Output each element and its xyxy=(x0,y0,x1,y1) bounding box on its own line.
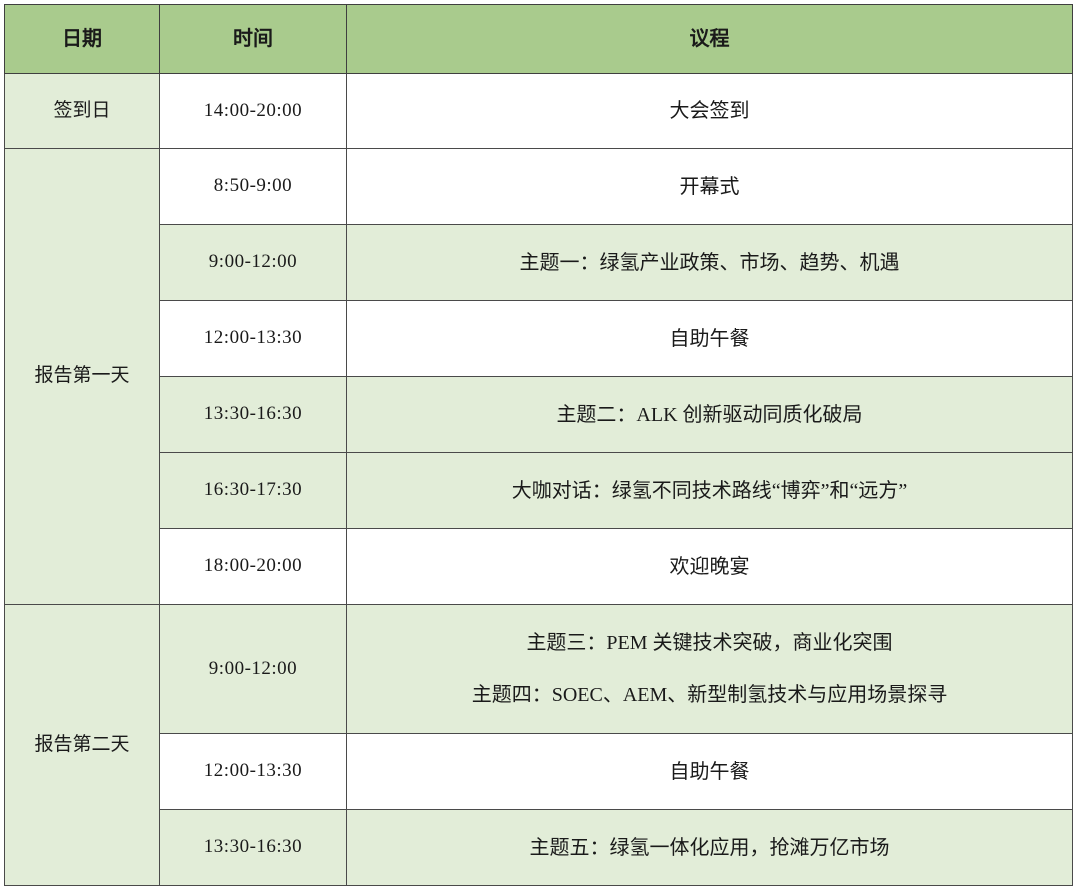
agenda-topic-line: 大咖对话：绿氢不同技术路线“博弈”和“远方” xyxy=(353,476,1066,506)
agenda-topic-cell: 主题二：ALK 创新驱动同质化破局 xyxy=(347,377,1073,453)
agenda-topic-line: 主题四：SOEC、AEM、新型制氢技术与应用场景探寻 xyxy=(353,680,1066,710)
table-row: 16:30-17:30大咖对话：绿氢不同技术路线“博弈”和“远方” xyxy=(5,453,1073,529)
column-header-topic: 议程 xyxy=(347,5,1073,74)
agenda-topic-cell: 主题一：绿氢产业政策、市场、趋势、机遇 xyxy=(347,225,1073,301)
agenda-topic-line: 主题二：ALK 创新驱动同质化破局 xyxy=(353,400,1066,430)
agenda-topic-cell: 自助午餐 xyxy=(347,734,1073,810)
header-row: 日期 时间 议程 xyxy=(5,5,1073,74)
date-cell: 签到日 xyxy=(5,74,160,149)
column-header-date: 日期 xyxy=(5,5,160,74)
agenda-topic-cell: 开幕式 xyxy=(347,149,1073,225)
time-cell: 12:00-13:30 xyxy=(160,734,347,810)
agenda-topic-cell: 自助午餐 xyxy=(347,301,1073,377)
table-body: 签到日14:00-20:00大会签到报告第一天8:50-9:00开幕式9:00-… xyxy=(5,74,1073,886)
table-row: 9:00-12:00主题一：绿氢产业政策、市场、趋势、机遇 xyxy=(5,225,1073,301)
date-cell: 报告第一天 xyxy=(5,149,160,605)
agenda-table-container: 日期 时间 议程 签到日14:00-20:00大会签到报告第一天8:50-9:0… xyxy=(0,0,1080,791)
table-row: 12:00-13:30自助午餐 xyxy=(5,301,1073,377)
time-cell: 14:00-20:00 xyxy=(160,74,347,149)
table-row: 12:00-13:30自助午餐 xyxy=(5,734,1073,810)
table-row: 13:30-16:30主题五：绿氢一体化应用，抢滩万亿市场 xyxy=(5,810,1073,886)
table-header: 日期 时间 议程 xyxy=(5,5,1073,74)
agenda-topic-cell: 主题三：PEM 关键技术突破，商业化突围主题四：SOEC、AEM、新型制氢技术与… xyxy=(347,605,1073,734)
conference-agenda-table: 日期 时间 议程 签到日14:00-20:00大会签到报告第一天8:50-9:0… xyxy=(4,4,1073,886)
time-cell: 18:00-20:00 xyxy=(160,529,347,605)
date-cell: 报告第二天 xyxy=(5,605,160,886)
agenda-topic-cell: 大咖对话：绿氢不同技术路线“博弈”和“远方” xyxy=(347,453,1073,529)
table-row: 签到日14:00-20:00大会签到 xyxy=(5,74,1073,149)
agenda-topic-line: 开幕式 xyxy=(353,172,1066,202)
time-cell: 8:50-9:00 xyxy=(160,149,347,225)
table-row: 13:30-16:30主题二：ALK 创新驱动同质化破局 xyxy=(5,377,1073,453)
agenda-topic-cell: 欢迎晚宴 xyxy=(347,529,1073,605)
time-cell: 9:00-12:00 xyxy=(160,605,347,734)
agenda-topic-line: 自助午餐 xyxy=(353,757,1066,787)
time-cell: 9:00-12:00 xyxy=(160,225,347,301)
agenda-topic-line: 主题一：绿氢产业政策、市场、趋势、机遇 xyxy=(353,248,1066,278)
time-cell: 13:30-16:30 xyxy=(160,377,347,453)
time-cell: 12:00-13:30 xyxy=(160,301,347,377)
agenda-topic-line: 大会签到 xyxy=(353,96,1066,126)
agenda-topic-cell: 主题五：绿氢一体化应用，抢滩万亿市场 xyxy=(347,810,1073,886)
column-header-time: 时间 xyxy=(160,5,347,74)
agenda-topic-cell: 大会签到 xyxy=(347,74,1073,149)
time-cell: 16:30-17:30 xyxy=(160,453,347,529)
time-cell: 13:30-16:30 xyxy=(160,810,347,886)
agenda-topic-line: 主题五：绿氢一体化应用，抢滩万亿市场 xyxy=(353,833,1066,863)
table-row: 报告第二天9:00-12:00主题三：PEM 关键技术突破，商业化突围主题四：S… xyxy=(5,605,1073,734)
table-row: 报告第一天8:50-9:00开幕式 xyxy=(5,149,1073,225)
agenda-topic-line: 欢迎晚宴 xyxy=(353,552,1066,582)
agenda-topic-line: 自助午餐 xyxy=(353,324,1066,354)
table-row: 18:00-20:00欢迎晚宴 xyxy=(5,529,1073,605)
agenda-topic-line: 主题三：PEM 关键技术突破，商业化突围 xyxy=(353,628,1066,658)
